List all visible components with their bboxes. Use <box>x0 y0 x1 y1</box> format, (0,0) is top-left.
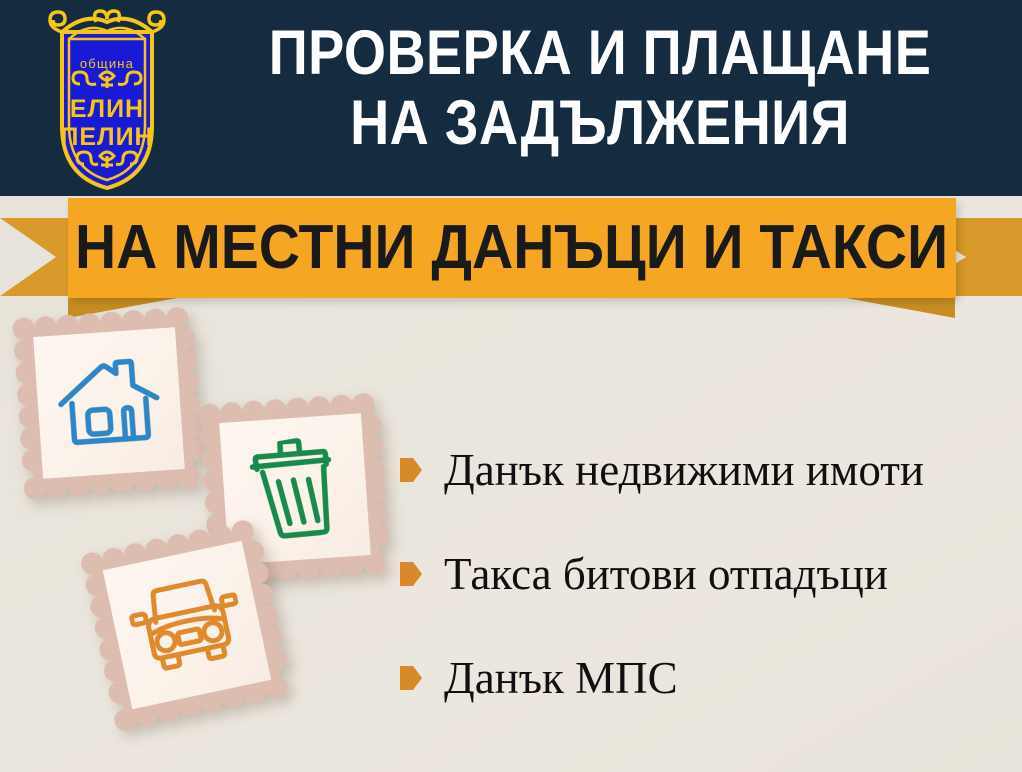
poster-header: община ЕЛИН ПЕЛИН <box>0 0 1022 196</box>
poster-canvas: община ЕЛИН ПЕЛИН <box>0 0 1022 772</box>
ribbon-label: НА МЕСТНИ ДАНЪЦИ И ТАКСИ <box>75 217 948 279</box>
title-line-1: ПРОВЕРКА И ПЛАЩАНЕ <box>243 18 957 88</box>
arrow-bullet-icon <box>400 666 422 690</box>
list-item[interactable]: Данък МПС <box>400 626 1010 730</box>
list-item[interactable]: Такса битови отпадъци <box>400 522 1010 626</box>
stamp-inner-vehicle <box>103 541 271 709</box>
list-item-label: Данък недвижими имоти <box>444 445 924 495</box>
stamp-card-property <box>12 306 206 500</box>
svg-text:община: община <box>80 56 134 71</box>
poster-title: ПРОВЕРКА И ПЛАЩАНЕ НА ЗАДЪЛЖЕНИЯ <box>185 18 1015 158</box>
house-icon <box>54 351 164 454</box>
stamp-inner-property <box>33 327 185 479</box>
list-item-label: Такса битови отпадъци <box>444 549 888 599</box>
subtitle-ribbon: НА МЕСТНИ ДАНЪЦИ И ТАКСИ <box>0 196 1022 314</box>
svg-text:ЕЛИН: ЕЛИН <box>70 95 144 123</box>
tax-services-list: Данък недвижими имоти Такса битови отпад… <box>400 418 1010 730</box>
car-icon <box>124 570 250 681</box>
municipality-logo: община ЕЛИН ПЕЛИН <box>40 6 174 192</box>
list-item[interactable]: Данък недвижими имоти <box>400 418 1010 522</box>
title-line-2: НА ЗАДЪЛЖЕНИЯ <box>243 88 957 158</box>
ribbon-fold-right <box>835 296 955 318</box>
stamp-card-vehicle <box>79 517 295 733</box>
arrow-bullet-icon <box>400 458 422 482</box>
svg-text:ПЕЛИН: ПЕЛИН <box>60 123 153 151</box>
arrow-bullet-icon <box>400 562 422 586</box>
ribbon-band: НА МЕСТНИ ДАНЪЦИ И ТАКСИ <box>68 198 956 298</box>
list-item-label: Данък МПС <box>444 653 678 703</box>
